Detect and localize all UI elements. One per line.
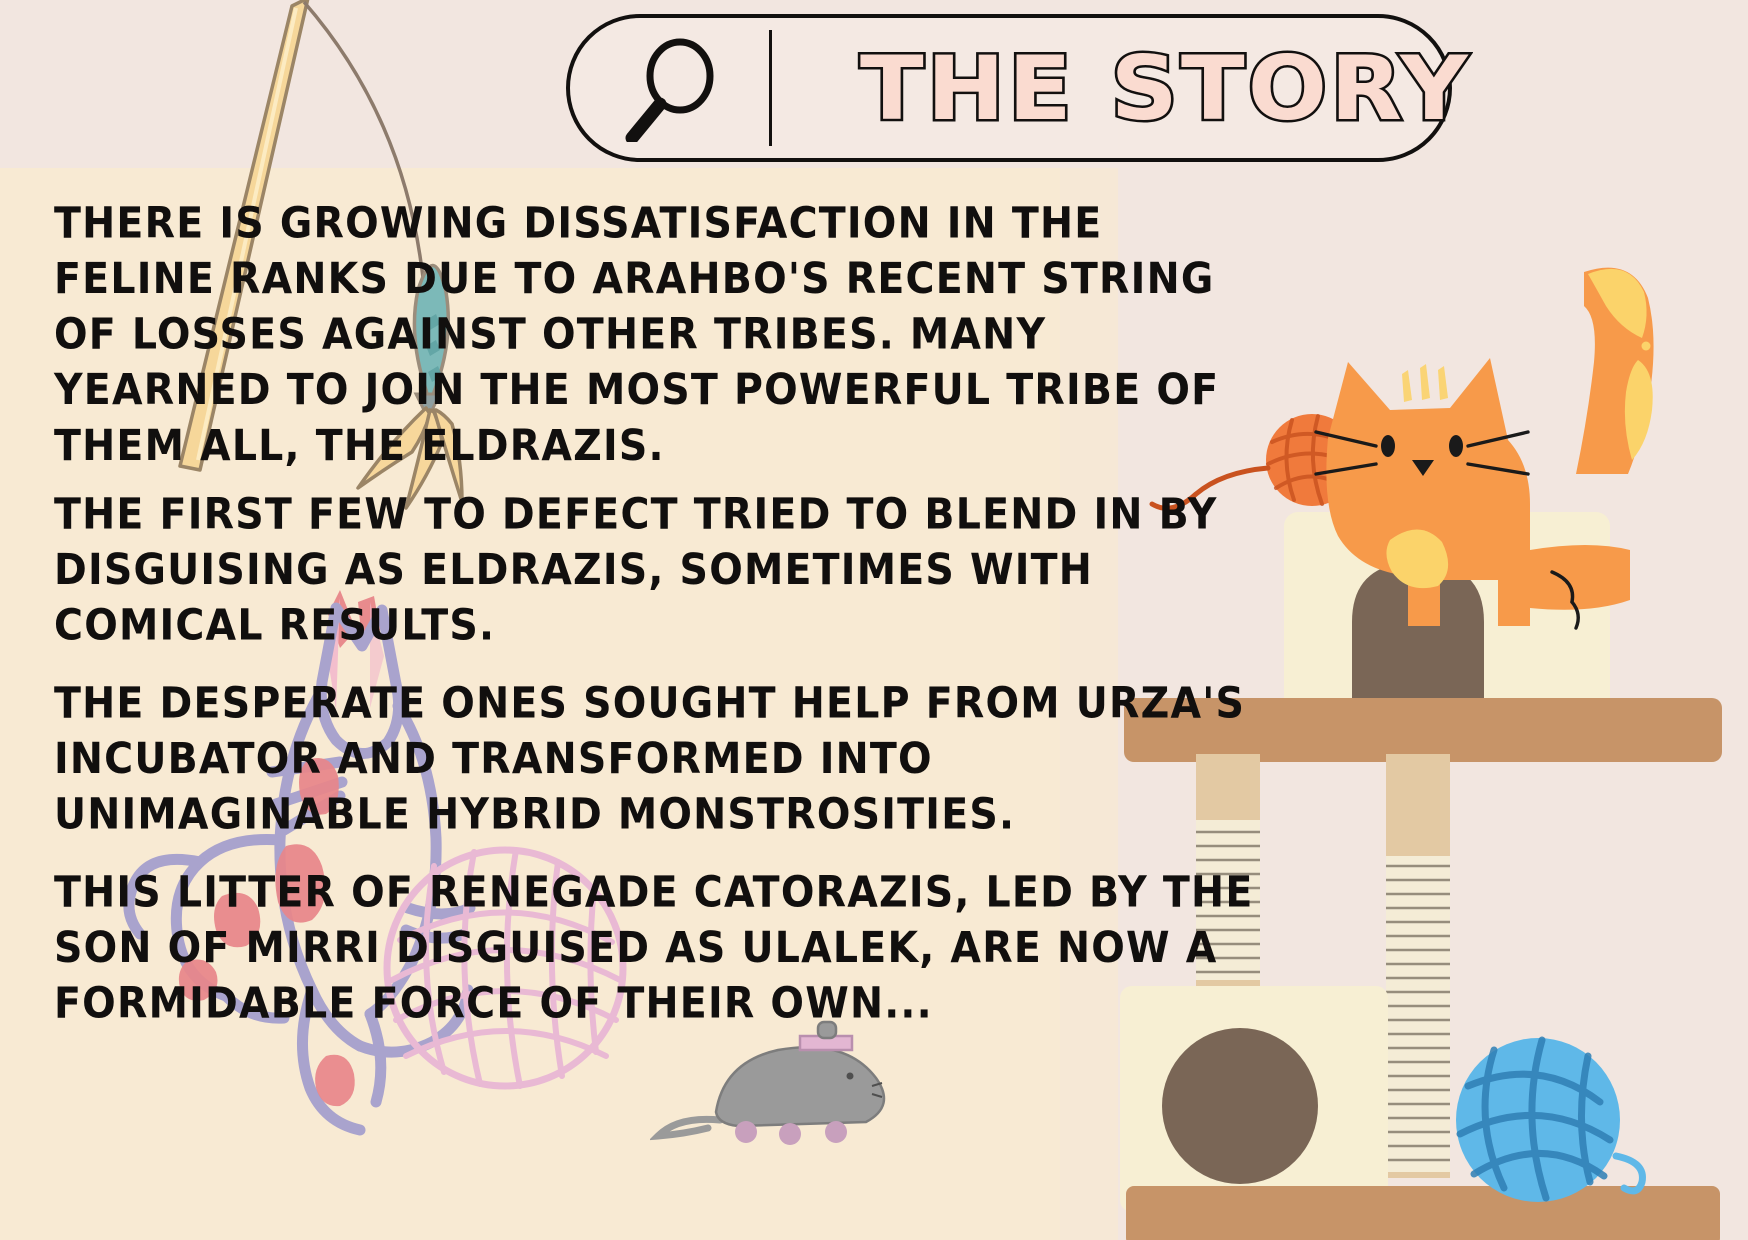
magnifying-glass-icon — [622, 38, 732, 142]
story-paragraph: There is growing dissatisfaction in the … — [54, 196, 1254, 474]
story-page: THE STORY There is growing dissatisfacti… — [0, 0, 1748, 1240]
story-paragraph: The first few to defect tried to blend i… — [54, 487, 1254, 654]
page-title: THE STORY — [860, 36, 1411, 142]
story-paragraph: This litter of renegade Catorazis, led b… — [54, 865, 1254, 1032]
story-text-block: There is growing dissatisfaction in the … — [54, 196, 1254, 1018]
story-paragraph: The desperate ones sought help from Urza… — [54, 676, 1254, 843]
header-divider — [769, 30, 772, 146]
